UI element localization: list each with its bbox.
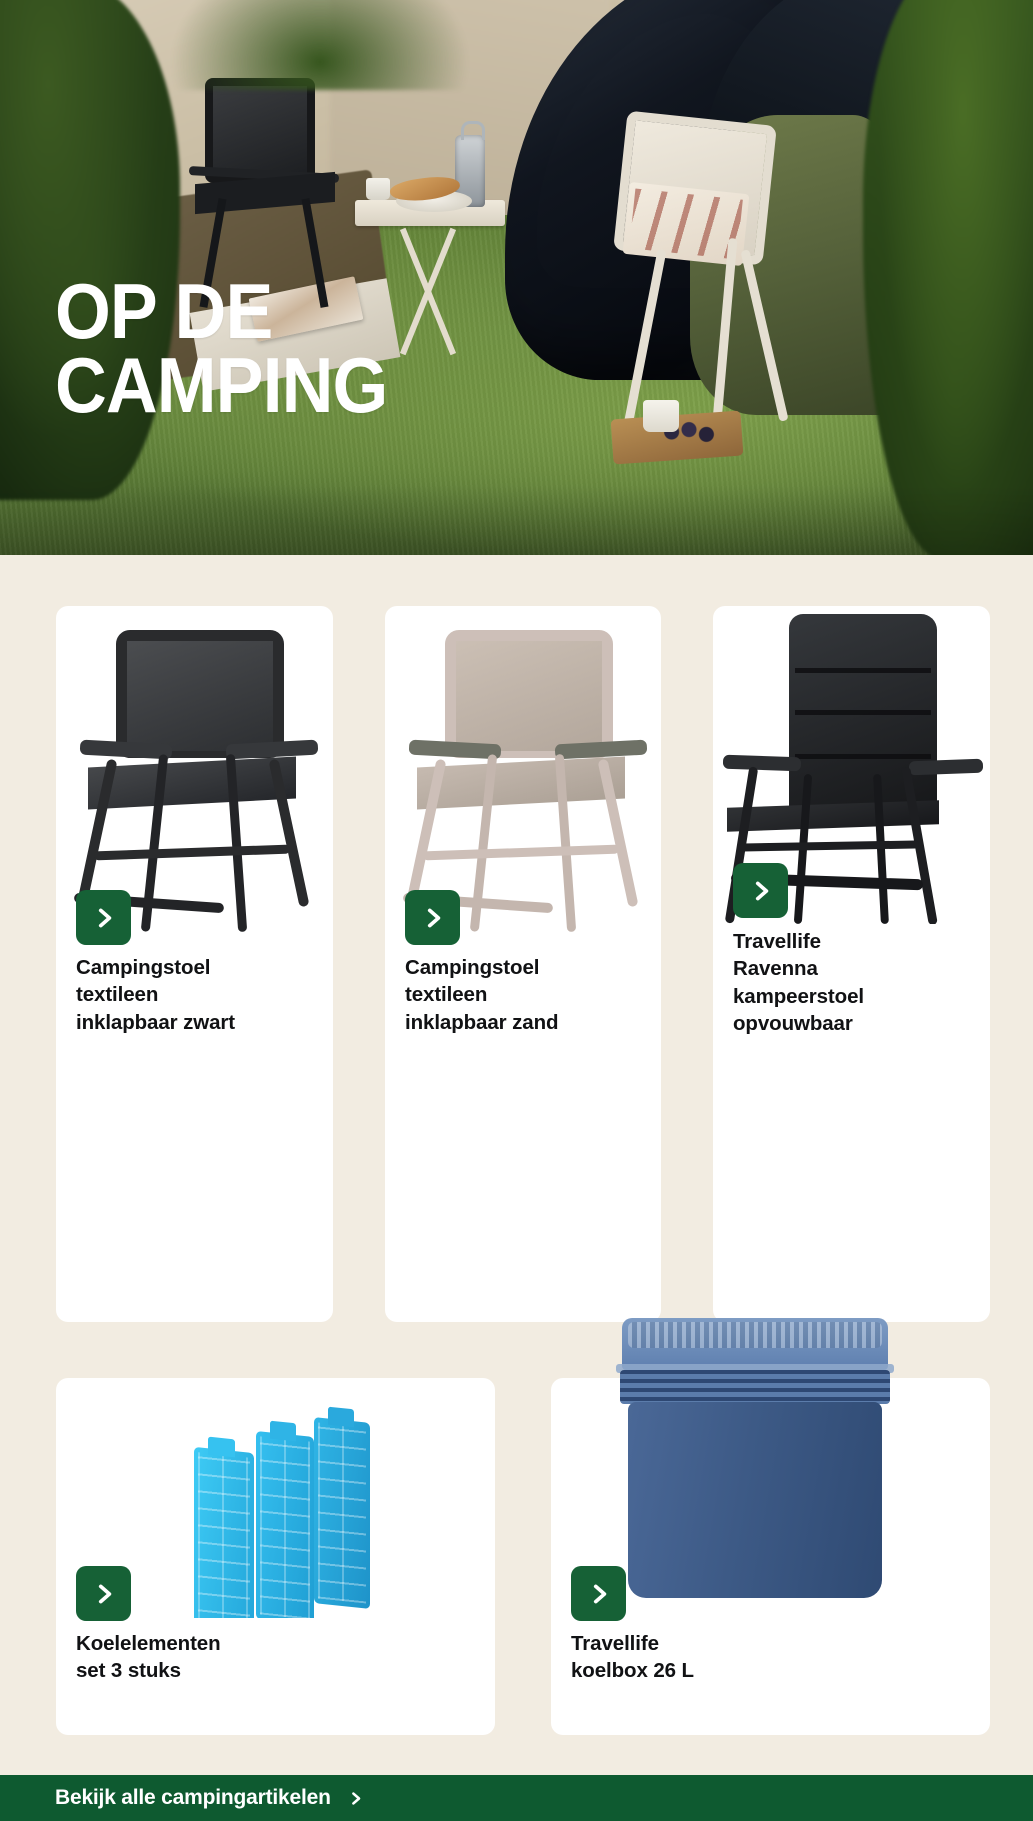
product-title-campingstoel-zwart: Campingstoel textileen inklapbaar zwart [76,954,326,1036]
product-card-travellife-koelbox[interactable]: Travellife koelbox 26 L [551,1378,990,1735]
foliage-right [863,0,1033,555]
product-arrow-button-travellife-koelbox[interactable] [571,1566,626,1621]
mug-secondary [643,400,679,432]
black-folding-chair [195,78,335,278]
ice-pack-middle [256,1431,314,1618]
product-arrow-button-travellife-ravenna[interactable] [733,863,788,918]
mug [366,178,390,200]
product-title-koelelementen: Koelelementen set 3 stuks [76,1630,476,1685]
chevron-right-icon [748,878,774,904]
view-all-camping-label: Bekijk alle campingartikelen [55,1786,331,1810]
cooler-body [628,1402,882,1598]
product-title-travellife-koelbox: Travellife koelbox 26 L [571,1630,971,1685]
product-card-koelelementen[interactable]: Koelelementen set 3 stuks [56,1378,495,1735]
page-title-line-1: OP DE [55,274,387,348]
product-arrow-button-koelelementen[interactable] [76,1566,131,1621]
product-arrow-button-campingstoel-zwart[interactable] [76,890,131,945]
chevron-right-icon [586,1581,612,1607]
product-arrow-button-campingstoel-zand[interactable] [405,890,460,945]
cooler-rim [620,1370,890,1404]
product-title-travellife-ravenna: Travellife Ravenna kampeerstoel opvouwba… [733,928,985,1037]
product-title-campingstoel-zand: Campingstoel textileen inklapbaar zand [405,954,655,1036]
chevron-right-icon [91,905,117,931]
chevron-right-icon [347,1790,364,1807]
page-title: OP DE CAMPING [55,274,387,422]
beige-recliner-chair [600,118,820,428]
ice-pack-back [314,1417,370,1609]
foliage-top [170,0,470,90]
ice-pack-front [194,1447,254,1618]
cooler-lid [622,1318,888,1370]
hero-gradient-overlay [0,485,1033,555]
chevron-right-icon [91,1581,117,1607]
page-title-line-2: CAMPING [55,348,387,422]
chevron-right-icon [420,905,446,931]
product-card-campingstoel-zwart[interactable]: Campingstoel textileen inklapbaar zwart [56,606,333,1322]
view-all-camping-bar[interactable]: Bekijk alle campingartikelen [0,1775,1033,1821]
hero-banner: OP DE CAMPING [0,0,1033,555]
